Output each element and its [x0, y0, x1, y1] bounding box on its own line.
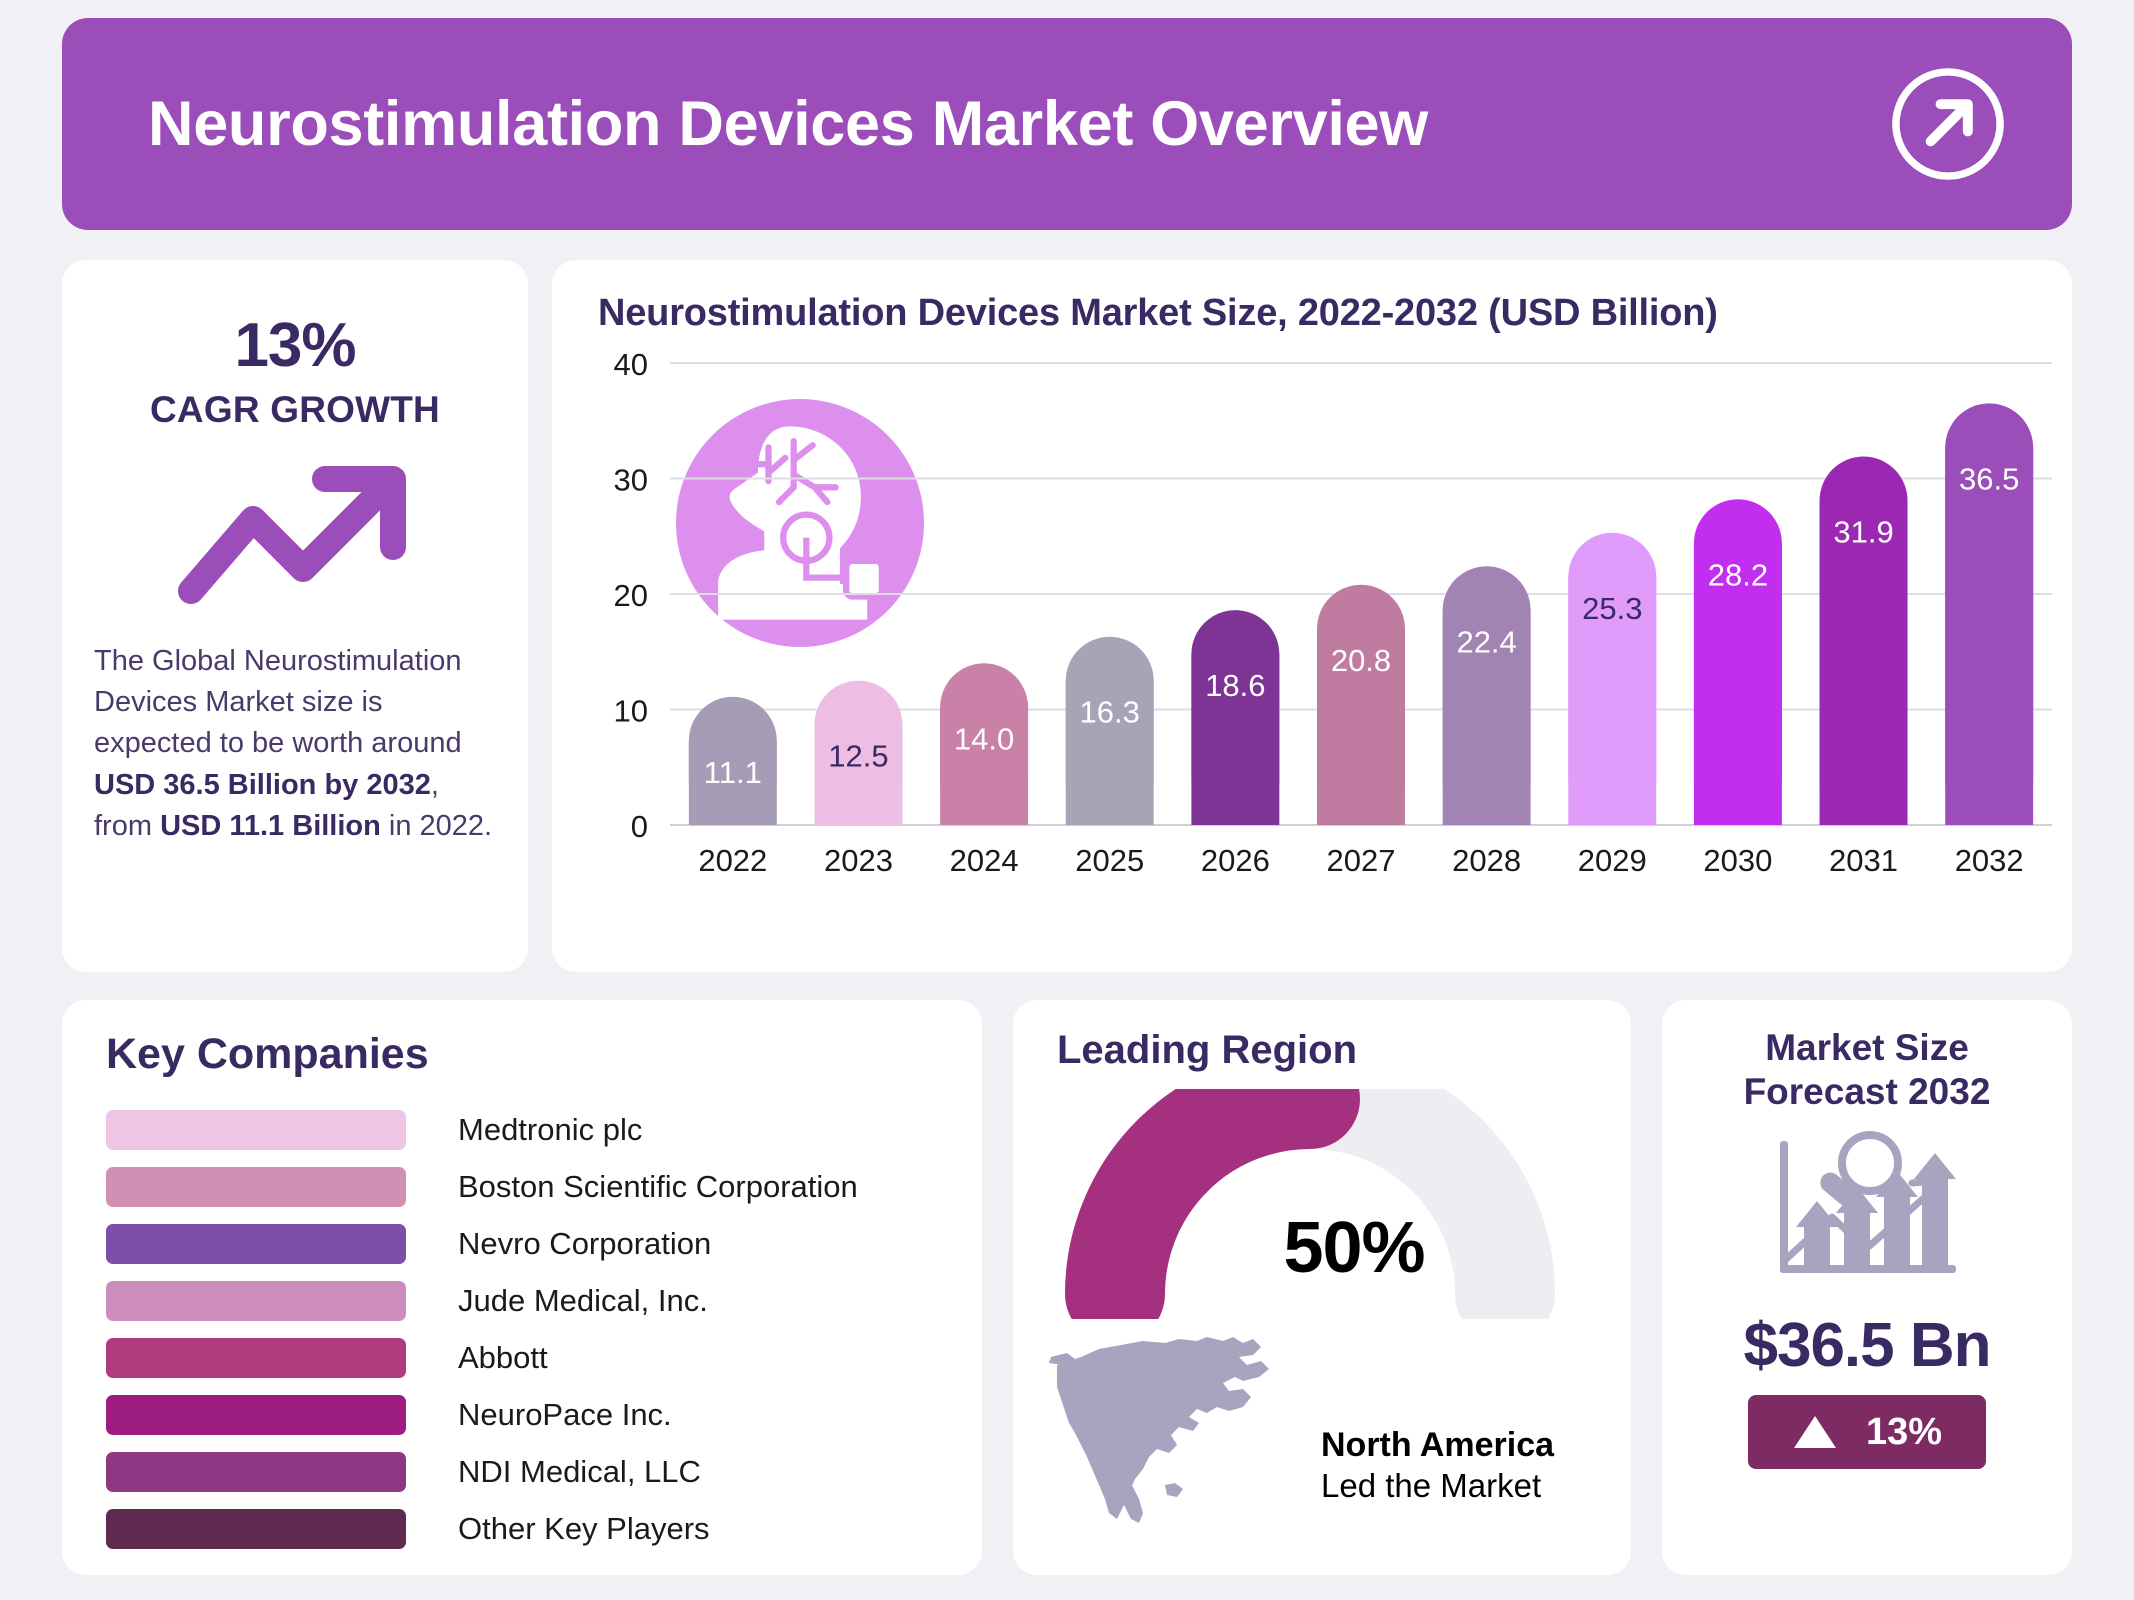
bar-group[interactable]: 14.0: [940, 663, 1028, 825]
x-axis-tick-label: 2027: [1327, 843, 1396, 878]
page-title: Neurostimulation Devices Market Overview: [90, 88, 1428, 160]
company-color-swatch: [106, 1395, 406, 1435]
y-axis-tick-label: 20: [614, 578, 648, 613]
growth-chart-magnifier-icon: [1762, 1131, 1972, 1296]
infographic-page: Neurostimulation Devices Market Overview…: [0, 0, 2134, 1600]
forecast-value: $36.5 Bn: [1662, 1310, 2072, 1381]
bar-value-label: 16.3: [1080, 695, 1140, 730]
brain-neurostimulation-icon: [676, 399, 924, 647]
cagr-description-text: in 2022.: [381, 810, 492, 842]
bar-group[interactable]: 16.3: [1066, 637, 1154, 825]
x-axis-tick-label: 2025: [1075, 843, 1144, 878]
chart-title: Neurostimulation Devices Market Size, 20…: [552, 260, 2072, 335]
bar-group[interactable]: 36.5: [1945, 403, 2033, 825]
cagr-description-text: The Global Neurostimulation Devices Mark…: [94, 645, 462, 759]
list-item[interactable]: NeuroPace Inc.: [106, 1386, 982, 1443]
y-axis-tick-label: 10: [614, 694, 648, 729]
company-name: NDI Medical, LLC: [458, 1454, 701, 1490]
company-color-swatch: [106, 1224, 406, 1264]
north-america-map-icon: [1047, 1327, 1297, 1527]
bar-value-label: 31.9: [1833, 515, 1893, 550]
bar-value-label: 18.6: [1205, 668, 1265, 703]
x-axis-tick-label: 2026: [1201, 843, 1270, 878]
trending-up-arrow-icon: [175, 457, 415, 607]
y-axis-tick-label: 40: [614, 347, 648, 382]
forecast-title-line1: Market Size: [1686, 1026, 2048, 1070]
forecast-title: Market Size Forecast 2032: [1662, 1000, 2072, 1113]
company-name: Boston Scientific Corporation: [458, 1169, 858, 1205]
bar-value-label: 25.3: [1582, 591, 1642, 626]
company-name: Other Key Players: [458, 1511, 710, 1547]
x-axis-tick-label: 2032: [1955, 843, 2024, 878]
company-color-swatch: [106, 1338, 406, 1378]
list-item[interactable]: Medtronic plc: [106, 1101, 982, 1158]
list-item[interactable]: Other Key Players: [106, 1500, 982, 1557]
x-axis-tick-label: 2024: [950, 843, 1019, 878]
x-axis-tick-label: 2030: [1703, 843, 1772, 878]
list-item[interactable]: Nevro Corporation: [106, 1215, 982, 1272]
bar-chart: 01020304011.1202212.5202314.0202416.3202…: [552, 335, 2072, 935]
x-axis-tick-label: 2022: [698, 843, 767, 878]
bar-group[interactable]: 25.3: [1568, 533, 1656, 825]
x-axis-tick-label: 2028: [1452, 843, 1521, 878]
gauge-wrapper: 50%: [1013, 1089, 1631, 1319]
bar-group[interactable]: 28.2: [1694, 499, 1782, 825]
bar-group[interactable]: 31.9: [1820, 457, 1908, 825]
bar-group[interactable]: 20.8: [1317, 585, 1405, 825]
company-name: Abbott: [458, 1340, 548, 1376]
x-axis-tick-label: 2029: [1578, 843, 1647, 878]
market-size-chart-card: Neurostimulation Devices Market Size, 20…: [552, 260, 2072, 972]
cagr-description: The Global Neurostimulation Devices Mark…: [94, 641, 496, 847]
bar-value-label: 36.5: [1959, 461, 2019, 496]
bar-value-label: 12.5: [828, 739, 888, 774]
company-name: Jude Medical, Inc.: [458, 1283, 708, 1319]
forecast-growth-badge: 13%: [1748, 1395, 1986, 1469]
cagr-description-emphasis: USD 11.1 Billion: [160, 810, 381, 842]
list-item[interactable]: Boston Scientific Corporation: [106, 1158, 982, 1215]
forecast-badge-percent: 13%: [1866, 1411, 1942, 1454]
y-axis-tick-label: 30: [614, 463, 648, 498]
company-name: NeuroPace Inc.: [458, 1397, 672, 1433]
x-axis-tick-label: 2023: [824, 843, 893, 878]
bar-value-label: 20.8: [1331, 643, 1391, 678]
cagr-description-emphasis: USD 36.5 Billion by 2032: [94, 769, 431, 801]
bar-group[interactable]: 22.4: [1443, 566, 1531, 825]
cagr-label: CAGR GROWTH: [62, 389, 528, 431]
company-name: Nevro Corporation: [458, 1226, 711, 1262]
page-header: Neurostimulation Devices Market Overview: [62, 18, 2072, 230]
company-color-swatch: [106, 1509, 406, 1549]
bar-value-label: 14.0: [954, 721, 1014, 756]
company-color-swatch: [106, 1281, 406, 1321]
region-name: North America: [1321, 1426, 1554, 1465]
key-companies-card: Key Companies Medtronic plcBoston Scient…: [62, 1000, 982, 1575]
company-color-swatch: [106, 1452, 406, 1492]
x-axis-tick-label: 2031: [1829, 843, 1898, 878]
key-companies-title: Key Companies: [62, 1000, 982, 1079]
y-axis-tick-label: 0: [631, 809, 648, 844]
cagr-percent: 13%: [62, 310, 528, 381]
region-summary: North America Led the Market: [1013, 1319, 1631, 1527]
region-text-block: North America Led the Market: [1297, 1426, 1554, 1527]
bar-group[interactable]: 11.1: [689, 697, 777, 825]
bar-body: [1945, 447, 2033, 825]
bar-group[interactable]: 18.6: [1191, 610, 1279, 825]
company-color-swatch: [106, 1110, 406, 1150]
company-color-swatch: [106, 1167, 406, 1207]
leading-region-card: Leading Region 50% North America Led the…: [1013, 1000, 1631, 1575]
region-subtitle: Led the Market: [1321, 1467, 1554, 1505]
list-item[interactable]: Jude Medical, Inc.: [106, 1272, 982, 1329]
bar-value-label: 28.2: [1708, 557, 1768, 592]
chart-plot-area: 01020304011.1202212.5202314.0202416.3202…: [552, 335, 2072, 935]
triangle-up-icon: [1792, 1413, 1838, 1451]
list-item[interactable]: NDI Medical, LLC: [106, 1443, 982, 1500]
key-companies-list: Medtronic plcBoston Scientific Corporati…: [62, 1101, 982, 1557]
bar-group[interactable]: 12.5: [814, 681, 902, 825]
bar-value-label: 11.1: [704, 755, 762, 790]
company-name: Medtronic plc: [458, 1112, 642, 1148]
cagr-card: 13% CAGR GROWTH The Global Neurostimulat…: [62, 260, 528, 972]
arrow-up-right-circle-icon[interactable]: [1886, 62, 2010, 186]
forecast-title-line2: Forecast 2032: [1686, 1070, 2048, 1114]
gauge-percent-value: 50%: [1013, 1207, 1631, 1289]
bar-value-label: 22.4: [1456, 624, 1516, 659]
leading-region-title: Leading Region: [1013, 1000, 1631, 1073]
list-item[interactable]: Abbott: [106, 1329, 982, 1386]
forecast-card: Market Size Forecast 2032 $36.5 Bn: [1662, 1000, 2072, 1575]
